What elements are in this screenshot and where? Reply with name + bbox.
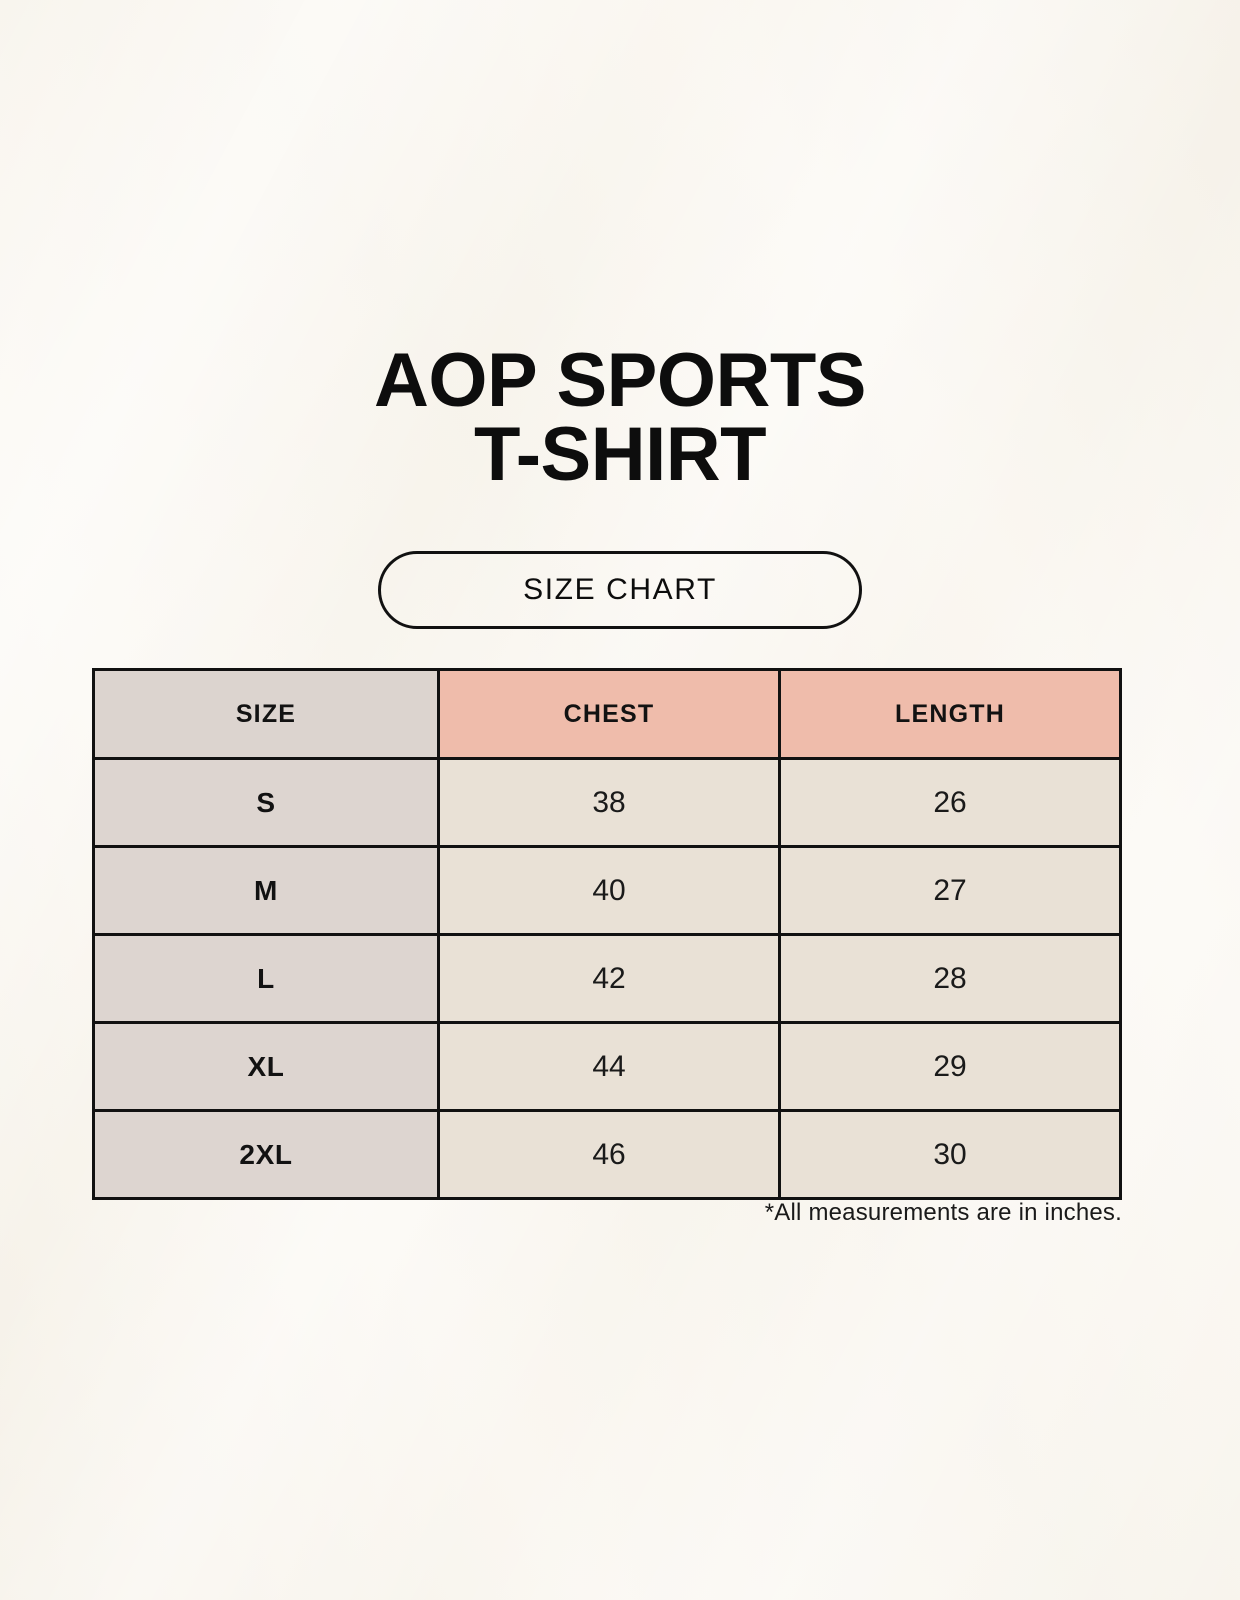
- cell-size: L: [94, 935, 439, 1023]
- size-table-header: SIZE CHEST LENGTH: [94, 670, 1121, 759]
- cell-length: 26: [780, 759, 1121, 847]
- size-chart-badge: SIZE CHART: [378, 551, 862, 629]
- table-row: XL 44 29: [94, 1023, 1121, 1111]
- page-title: AOP SPORTS T-SHIRT: [0, 344, 1240, 493]
- size-table: SIZE CHEST LENGTH S 38 26 M 40 27 L: [92, 668, 1122, 1200]
- measurement-footnote: *All measurements are in inches.: [92, 1199, 1122, 1227]
- table-row: M 40 27: [94, 847, 1121, 935]
- column-header-length: LENGTH: [780, 670, 1121, 759]
- cell-chest: 42: [439, 935, 780, 1023]
- table-row: L 42 28: [94, 935, 1121, 1023]
- cell-size: S: [94, 759, 439, 847]
- cell-length: 27: [780, 847, 1121, 935]
- cell-chest: 38: [439, 759, 780, 847]
- cell-length: 29: [780, 1023, 1121, 1111]
- size-chart-page: AOP SPORTS T-SHIRT SIZE CHART SIZE CHEST…: [0, 0, 1240, 1600]
- column-header-size: SIZE: [94, 670, 439, 759]
- table-row: 2XL 46 30: [94, 1111, 1121, 1199]
- size-table-wrap: SIZE CHEST LENGTH S 38 26 M 40 27 L: [92, 668, 1122, 1200]
- table-header-row: SIZE CHEST LENGTH: [94, 670, 1121, 759]
- cell-size: XL: [94, 1023, 439, 1111]
- cell-chest: 40: [439, 847, 780, 935]
- cell-length: 30: [780, 1111, 1121, 1199]
- size-table-body: S 38 26 M 40 27 L 42 28 XL 44 29: [94, 759, 1121, 1199]
- cell-size: 2XL: [94, 1111, 439, 1199]
- cell-chest: 46: [439, 1111, 780, 1199]
- size-chart-badge-wrap: SIZE CHART: [0, 551, 1240, 629]
- column-header-chest: CHEST: [439, 670, 780, 759]
- title-block: AOP SPORTS T-SHIRT: [0, 344, 1240, 493]
- cell-size: M: [94, 847, 439, 935]
- cell-length: 28: [780, 935, 1121, 1023]
- cell-chest: 44: [439, 1023, 780, 1111]
- table-row: S 38 26: [94, 759, 1121, 847]
